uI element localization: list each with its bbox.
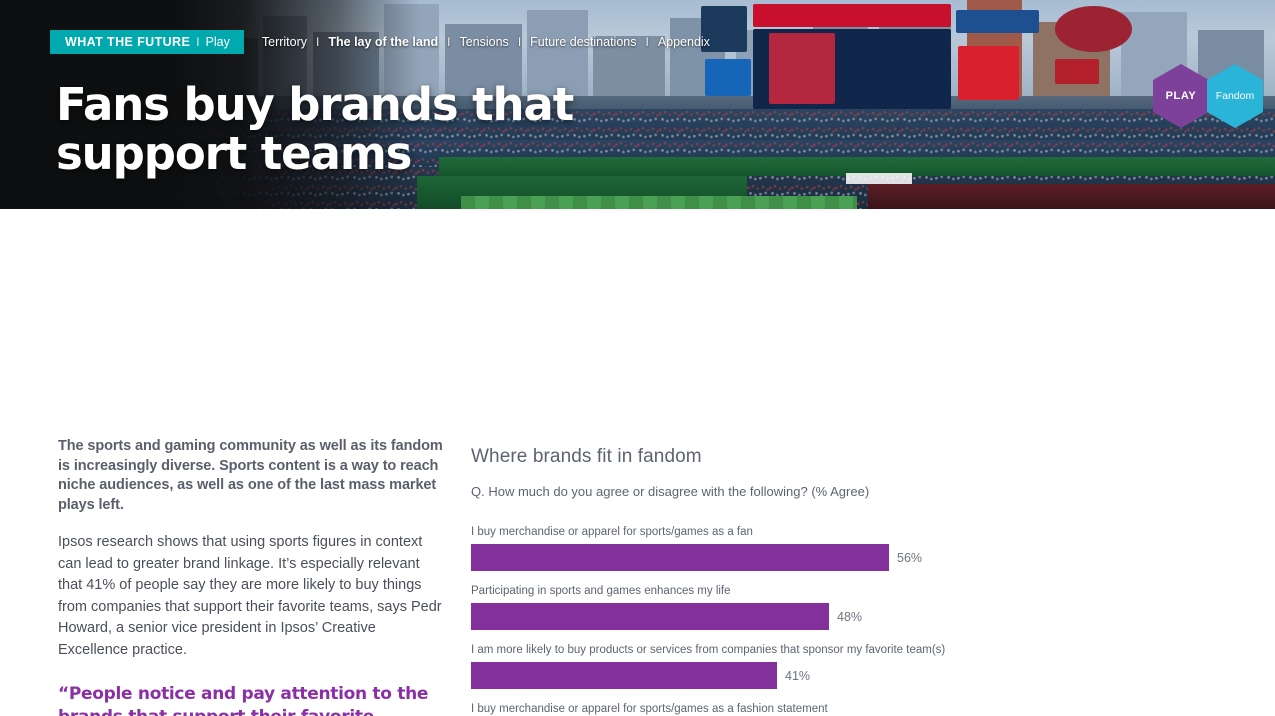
- chart-subtitle: Q. How much do you agree or disagree wit…: [471, 484, 1031, 499]
- bar-category-label: I am more likely to buy products or serv…: [471, 644, 1031, 656]
- nav-separator: I: [636, 35, 657, 49]
- stadium-sign: [956, 10, 1039, 33]
- article-lead: The sports and gaming community as well …: [58, 437, 443, 515]
- stadium-sign: [958, 46, 1019, 100]
- outfield-ad: [846, 173, 912, 183]
- jumbotron-screen: [769, 33, 835, 104]
- bar-value-label: 56%: [897, 551, 922, 565]
- bar-value-label: 41%: [785, 669, 810, 683]
- nav-item-appendix[interactable]: Appendix: [658, 35, 710, 49]
- bar-fill: [471, 662, 777, 689]
- top-navigation: WHAT THE FUTURE I Play Territory I The l…: [50, 30, 710, 54]
- bar-row: I am more likely to buy products or serv…: [471, 644, 1031, 689]
- bar-chart: I buy merchandise or apparel for sports/…: [471, 526, 1031, 716]
- article-column: The sports and gaming community as well …: [58, 437, 443, 716]
- bar-row: I buy merchandise or apparel for sports/…: [471, 526, 1031, 571]
- nav-item-the-lay-of-the-land[interactable]: The lay of the land: [328, 35, 438, 49]
- nav-separator: I: [438, 35, 459, 49]
- brand-title: WHAT THE FUTURE: [65, 35, 190, 49]
- badge-separator: I: [190, 35, 205, 49]
- what-the-future-badge[interactable]: WHAT THE FUTURE I Play: [50, 30, 244, 54]
- page-title: Fans buy brands that support teams: [56, 80, 616, 178]
- chart-panel: Where brands fit in fandom Q. How much d…: [471, 446, 1031, 716]
- bar-fill: [471, 603, 829, 630]
- field-grass: [461, 196, 857, 209]
- chart-title: Where brands fit in fandom: [471, 446, 1031, 468]
- nav-links: Territory I The lay of the land I Tensio…: [262, 35, 710, 49]
- nav-item-future-destinations[interactable]: Future destinations: [530, 35, 636, 49]
- nav-separator: I: [509, 35, 530, 49]
- stadium-signage-band: [868, 184, 1275, 209]
- bar-fill: [471, 544, 889, 571]
- bar-category-label: I buy merchandise or apparel for sports/…: [471, 703, 1031, 715]
- bar-row: I buy merchandise or apparel for sports/…: [471, 703, 1031, 716]
- article-paragraph-1: Ipsos research shows that using sports f…: [58, 532, 443, 661]
- badge-subtitle: Play: [206, 35, 230, 49]
- page-header: WHAT THE FUTURE I Play Territory I The l…: [0, 0, 1275, 209]
- hex-badge-play[interactable]: PLAY: [1153, 64, 1209, 128]
- bar-row: Participating in sports and games enhanc…: [471, 585, 1031, 630]
- page-content: The sports and gaming community as well …: [0, 209, 1275, 716]
- nav-item-territory[interactable]: Territory: [262, 35, 307, 49]
- stadium-sign: [1055, 59, 1099, 84]
- bar-category-label: Participating in sports and games enhanc…: [471, 585, 1031, 597]
- hex-badge-group: PLAY Fandom: [1153, 64, 1263, 128]
- nav-separator: I: [307, 35, 328, 49]
- bar-value-label: 48%: [837, 610, 862, 624]
- stadium-sign: [705, 59, 751, 97]
- bar-category-label: I buy merchandise or apparel for sports/…: [471, 526, 1031, 538]
- team-logo: [1055, 6, 1132, 52]
- nationals-park-sign: [753, 4, 951, 27]
- hex-badge-fandom[interactable]: Fandom: [1207, 64, 1263, 128]
- pull-quote: “People notice and pay attention to the …: [58, 683, 443, 716]
- nav-item-tensions[interactable]: Tensions: [459, 35, 508, 49]
